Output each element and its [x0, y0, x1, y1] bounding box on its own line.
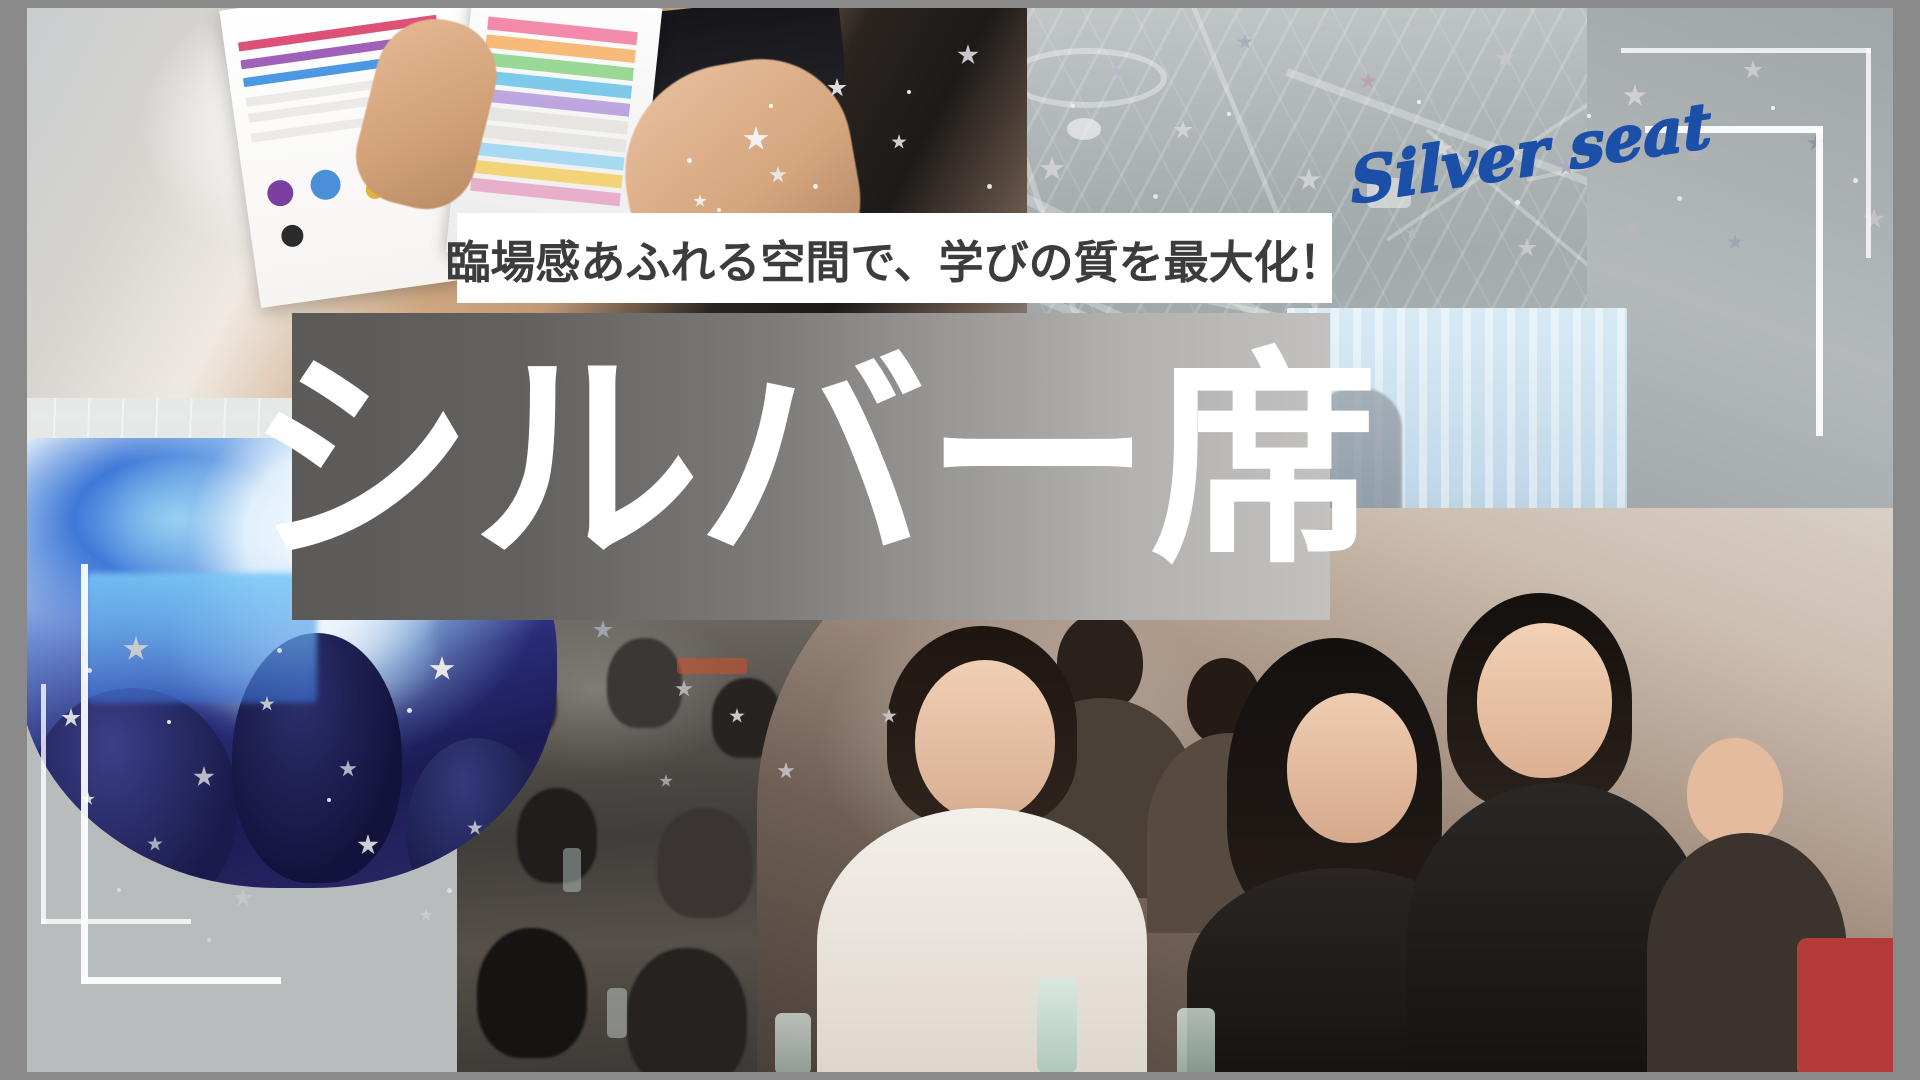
- title-text: シルバー席: [246, 347, 1376, 575]
- poster-stage: Silver seat 臨場感あふれる空間で、学びの質を最大化！ シルバー席: [0, 0, 1920, 1080]
- subtitle-band: 臨場感あふれる空間で、学びの質を最大化！: [457, 213, 1332, 303]
- subtitle-text: 臨場感あふれる空間で、学びの質を最大化！: [445, 226, 1343, 291]
- silver-seat-script-logo: Silver seat: [1357, 116, 1697, 236]
- title-box: シルバー席: [292, 313, 1330, 620]
- poster-canvas: Silver seat 臨場感あふれる空間で、学びの質を最大化！ シルバー席: [27, 8, 1893, 1072]
